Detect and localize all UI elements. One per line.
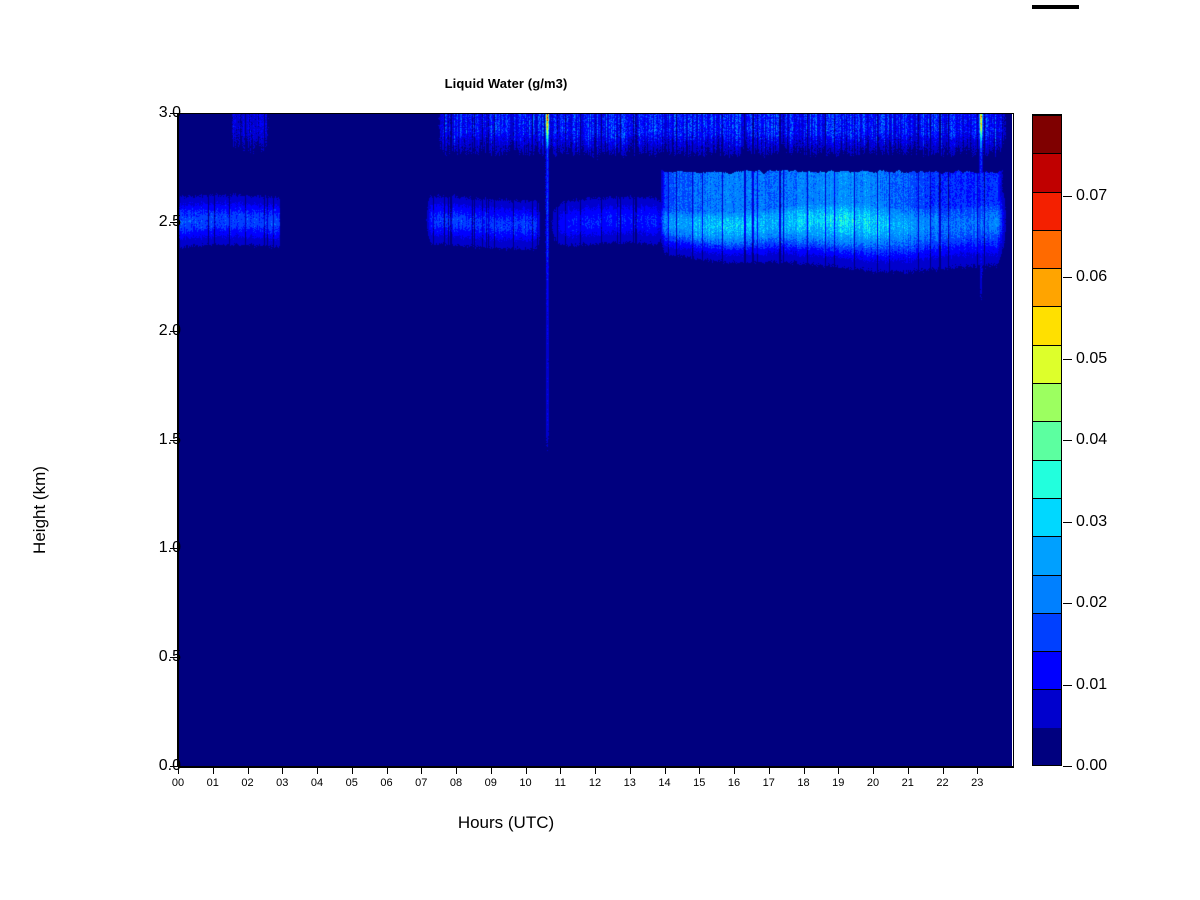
colorbar-tick <box>1063 685 1072 686</box>
colorbar-cell-3 <box>1033 613 1061 651</box>
colorbar-tick <box>1063 522 1072 523</box>
x-tick <box>838 767 839 774</box>
colorbar-tick <box>1063 196 1072 197</box>
x-tick <box>908 767 909 774</box>
colorbar-tick-label: 0.03 <box>1076 514 1107 530</box>
x-tick <box>387 767 388 774</box>
page-title: Liquid Water (g/m3) <box>0 76 1012 91</box>
colorbar-tick <box>1063 603 1072 604</box>
colorbar-cell-7 <box>1033 460 1061 498</box>
colorbar-cell-0 <box>1033 728 1061 765</box>
x-tick <box>317 767 318 774</box>
x-tick <box>699 767 700 774</box>
x-tick <box>665 767 666 774</box>
colorbar-cell-9 <box>1033 383 1061 421</box>
colorbar-tick-label: 0.07 <box>1076 188 1107 204</box>
colorbar-tick <box>1063 277 1072 278</box>
figure-root: Liquid Water (g/m3) 00010203040506070809… <box>0 0 1200 900</box>
colorbar <box>1032 114 1062 766</box>
x-tick <box>526 767 527 774</box>
colorbar-cell-10 <box>1033 345 1061 383</box>
x-tick <box>769 767 770 774</box>
colorbar-tick-label: 0.06 <box>1076 269 1107 285</box>
y-tick-label: 0.5 <box>0 649 185 665</box>
x-tick <box>804 767 805 774</box>
heatmap-field <box>178 113 1012 766</box>
colorbar-cell-11 <box>1033 306 1061 344</box>
x-tick <box>943 767 944 774</box>
colorbar-cell-5 <box>1033 536 1061 574</box>
colorbar-cell-13 <box>1033 230 1061 268</box>
corner-mark <box>1032 5 1079 9</box>
y-tick-label: 0.0 <box>0 758 185 774</box>
colorbar-tick-label: 0.01 <box>1076 677 1107 693</box>
colorbar-cell-2 <box>1033 651 1061 689</box>
y-axis-title: Height (km) <box>30 410 50 610</box>
x-tick <box>595 767 596 774</box>
x-tick <box>734 767 735 774</box>
x-tick <box>491 767 492 774</box>
x-tick <box>213 767 214 774</box>
x-tick <box>282 767 283 774</box>
x-tick <box>248 767 249 774</box>
x-tick <box>630 767 631 774</box>
colorbar-tick-label: 0.05 <box>1076 351 1107 367</box>
colorbar-tick-label: 0.04 <box>1076 432 1107 448</box>
colorbar-tick <box>1063 440 1072 441</box>
x-tick <box>977 767 978 774</box>
colorbar-cell-6 <box>1033 498 1061 536</box>
x-tick-label: 23 <box>957 777 997 789</box>
y-tick-label: 2.0 <box>0 323 185 339</box>
colorbar-tick-label: 0.00 <box>1076 758 1107 774</box>
colorbar-cell-16 <box>1033 115 1061 153</box>
x-axis-title: Hours (UTC) <box>0 813 1012 833</box>
colorbar-cell-12 <box>1033 268 1061 306</box>
y-tick-label: 1.0 <box>0 540 185 556</box>
colorbar-cell-14 <box>1033 192 1061 230</box>
x-tick <box>873 767 874 774</box>
y-tick-label: 3.0 <box>0 105 185 121</box>
y-tick-label: 2.5 <box>0 214 185 230</box>
x-tick <box>421 767 422 774</box>
colorbar-cell-15 <box>1033 153 1061 191</box>
x-tick <box>352 767 353 774</box>
colorbar-cell-1 <box>1033 689 1061 727</box>
colorbar-tick <box>1063 359 1072 360</box>
colorbar-tick <box>1063 766 1072 767</box>
colorbar-cell-8 <box>1033 421 1061 459</box>
x-tick <box>456 767 457 774</box>
colorbar-tick-label: 0.02 <box>1076 595 1107 611</box>
y-tick-label: 1.5 <box>0 432 185 448</box>
colorbar-cell-4 <box>1033 575 1061 613</box>
x-tick <box>560 767 561 774</box>
